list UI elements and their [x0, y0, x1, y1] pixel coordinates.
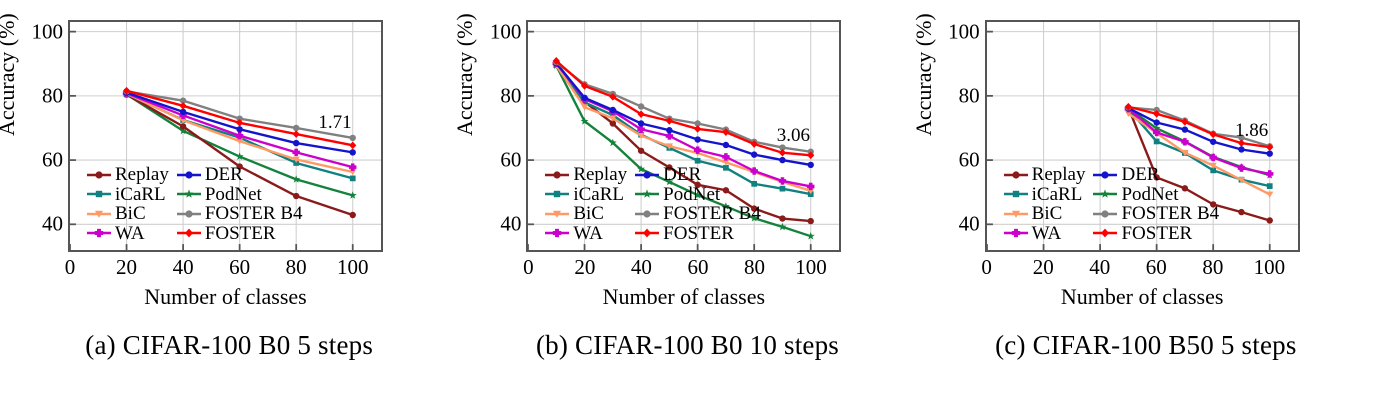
legend-label: PodNet	[1121, 185, 1178, 204]
legend-item-foster[interactable]: FOSTER	[1092, 224, 1219, 243]
legend-item-foster[interactable]: FOSTER	[176, 224, 303, 243]
x-tick-c-60: 60	[1146, 257, 1167, 278]
x-tick-b-60: 60	[687, 257, 708, 278]
legend-marker-square-icon	[544, 187, 570, 201]
legend-marker-triangle-down-icon	[86, 207, 112, 221]
x-axis-label-a: Number of classes	[68, 284, 383, 310]
legend-label: Replay	[115, 165, 169, 184]
legend-item-foster-b4[interactable]: FOSTER B4	[1092, 204, 1219, 223]
legend-marker-diamond-icon	[176, 226, 202, 240]
y-tick-b-80: 80	[500, 85, 521, 106]
legend-label: PodNet	[205, 185, 262, 204]
y-tick-a-60: 60	[42, 150, 63, 171]
y-tick-c-100: 100	[948, 21, 980, 42]
legend-label: iCaRL	[1032, 185, 1083, 204]
legend-label: Replay	[573, 165, 627, 184]
y-axis-label-c: Accuracy (%)	[911, 13, 937, 136]
legend-label: FOSTER B4	[1121, 204, 1219, 223]
legend-label: WA	[573, 224, 603, 243]
legend-label: BiC	[573, 204, 604, 223]
legend-marker-circle-icon	[176, 168, 202, 182]
legend-item-bic[interactable]: BiC	[86, 204, 169, 223]
legend-label: iCaRL	[115, 185, 166, 204]
legend-label: FOSTER	[663, 224, 734, 243]
x-tick-a-40: 40	[173, 257, 194, 278]
legend-item-der[interactable]: DER	[176, 165, 303, 184]
panel-a: Accuracy (%) 406080100020406080100 Numbe…	[0, 0, 458, 409]
x-axis-label-b: Number of classes	[526, 284, 841, 310]
legend-label: FOSTER	[1121, 224, 1192, 243]
plot-area-b: Accuracy (%) 406080100020406080100 Numbe…	[458, 0, 916, 300]
plot-area-c: Accuracy (%) 406080100020406080100 Numbe…	[917, 0, 1375, 300]
legend-item-icarl[interactable]: iCaRL	[544, 185, 627, 204]
x-tick-c-100: 100	[1254, 257, 1286, 278]
legend-b: ReplayDERiCaRLPodNetBiCFOSTER B4WAFOSTER	[544, 165, 761, 243]
x-tick-a-100: 100	[337, 257, 369, 278]
y-axis-label-a: Accuracy (%)	[0, 13, 20, 136]
legend-item-wa[interactable]: WA	[1003, 224, 1086, 243]
legend-marker-circle-icon	[1003, 168, 1029, 182]
legend-item-podnet[interactable]: PodNet	[634, 185, 761, 204]
x-tick-b-40: 40	[631, 257, 652, 278]
x-tick-b-100: 100	[795, 257, 827, 278]
legend-marker-star-icon	[176, 187, 202, 201]
legend-label: FOSTER	[205, 224, 276, 243]
legend-label: DER	[205, 165, 243, 184]
legend-item-bic[interactable]: BiC	[1003, 204, 1086, 223]
legend-marker-circle-icon	[1092, 207, 1118, 221]
x-tick-c-20: 20	[1033, 257, 1054, 278]
legend-item-replay[interactable]: Replay	[86, 165, 169, 184]
legend-marker-triangle-down-icon	[544, 207, 570, 221]
x-tick-a-80: 80	[286, 257, 307, 278]
y-axis-label-b: Accuracy (%)	[452, 13, 478, 136]
y-tick-c-80: 80	[959, 85, 980, 106]
x-tick-c-40: 40	[1089, 257, 1110, 278]
legend-a: ReplayDERiCaRLPodNetBiCFOSTER B4WAFOSTER	[86, 165, 303, 243]
legend-marker-star-icon	[1092, 187, 1118, 201]
legend-item-podnet[interactable]: PodNet	[1092, 185, 1219, 204]
y-tick-a-80: 80	[42, 85, 63, 106]
x-axis-label-c: Number of classes	[985, 284, 1300, 310]
legend-label: FOSTER B4	[663, 204, 761, 223]
annotation-b: 3.06	[777, 125, 810, 147]
legend-marker-circle-icon	[544, 168, 570, 182]
caption-b: (b) CIFAR-100 B0 10 steps	[458, 330, 916, 361]
legend-item-bic[interactable]: BiC	[544, 204, 627, 223]
legend-marker-diamond-icon	[1092, 226, 1118, 240]
legend-label: PodNet	[663, 185, 720, 204]
x-tick-a-0: 0	[65, 257, 76, 278]
legend-marker-circle-icon	[176, 207, 202, 221]
legend-label: FOSTER B4	[205, 204, 303, 223]
legend-marker-star-icon	[634, 187, 660, 201]
legend-item-icarl[interactable]: iCaRL	[1003, 185, 1086, 204]
x-tick-a-20: 20	[116, 257, 137, 278]
legend-item-replay[interactable]: Replay	[544, 165, 627, 184]
legend-marker-circle-icon	[634, 207, 660, 221]
legend-item-foster-b4[interactable]: FOSTER B4	[634, 204, 761, 223]
y-tick-b-60: 60	[500, 150, 521, 171]
y-tick-b-40: 40	[500, 214, 521, 235]
legend-label: iCaRL	[573, 185, 624, 204]
legend-marker-diamond-icon	[634, 226, 660, 240]
plot-area-a: Accuracy (%) 406080100020406080100 Numbe…	[0, 0, 458, 300]
legend-label: WA	[115, 224, 145, 243]
legend-marker-circle-icon	[634, 168, 660, 182]
legend-marker-plus-icon	[86, 226, 112, 240]
legend-label: Replay	[1032, 165, 1086, 184]
figure-cifar100-comparison: Accuracy (%) 406080100020406080100 Numbe…	[0, 0, 1375, 409]
caption-a: (a) CIFAR-100 B0 5 steps	[0, 330, 458, 361]
legend-marker-circle-icon	[1092, 168, 1118, 182]
caption-c: (c) CIFAR-100 B50 5 steps	[917, 330, 1375, 361]
legend-marker-triangle-down-icon	[1003, 207, 1029, 221]
legend-c: ReplayDERiCaRLPodNetBiCFOSTER B4WAFOSTER	[1003, 165, 1220, 243]
x-tick-b-0: 0	[523, 257, 534, 278]
legend-marker-circle-icon	[86, 168, 112, 182]
legend-marker-plus-icon	[1003, 226, 1029, 240]
legend-item-wa[interactable]: WA	[544, 224, 627, 243]
legend-marker-square-icon	[1003, 187, 1029, 201]
legend-item-podnet[interactable]: PodNet	[176, 185, 303, 204]
legend-label: WA	[1032, 224, 1062, 243]
legend-item-foster[interactable]: FOSTER	[634, 224, 761, 243]
annotation-a: 1.71	[318, 112, 351, 134]
legend-item-replay[interactable]: Replay	[1003, 165, 1086, 184]
series-b-der	[553, 60, 814, 168]
x-tick-b-20: 20	[574, 257, 595, 278]
legend-marker-square-icon	[86, 187, 112, 201]
y-tick-a-100: 100	[32, 21, 64, 42]
legend-marker-plus-icon	[544, 226, 570, 240]
y-tick-c-40: 40	[959, 214, 980, 235]
legend-item-foster-b4[interactable]: FOSTER B4	[176, 204, 303, 223]
annotation-c: 1.86	[1235, 120, 1268, 142]
legend-label: DER	[663, 165, 701, 184]
legend-item-icarl[interactable]: iCaRL	[86, 185, 169, 204]
panel-c: Accuracy (%) 406080100020406080100 Numbe…	[917, 0, 1375, 409]
legend-item-wa[interactable]: WA	[86, 224, 169, 243]
y-tick-c-60: 60	[959, 150, 980, 171]
x-tick-c-80: 80	[1202, 257, 1223, 278]
x-tick-c-0: 0	[981, 257, 992, 278]
x-tick-b-80: 80	[744, 257, 765, 278]
legend-label: BiC	[115, 204, 146, 223]
legend-item-der[interactable]: DER	[634, 165, 761, 184]
panel-b: Accuracy (%) 406080100020406080100 Numbe…	[458, 0, 916, 409]
legend-item-der[interactable]: DER	[1092, 165, 1219, 184]
y-tick-b-100: 100	[490, 21, 522, 42]
y-tick-a-40: 40	[42, 214, 63, 235]
x-tick-a-60: 60	[229, 257, 250, 278]
legend-label: BiC	[1032, 204, 1063, 223]
legend-label: DER	[1121, 165, 1159, 184]
